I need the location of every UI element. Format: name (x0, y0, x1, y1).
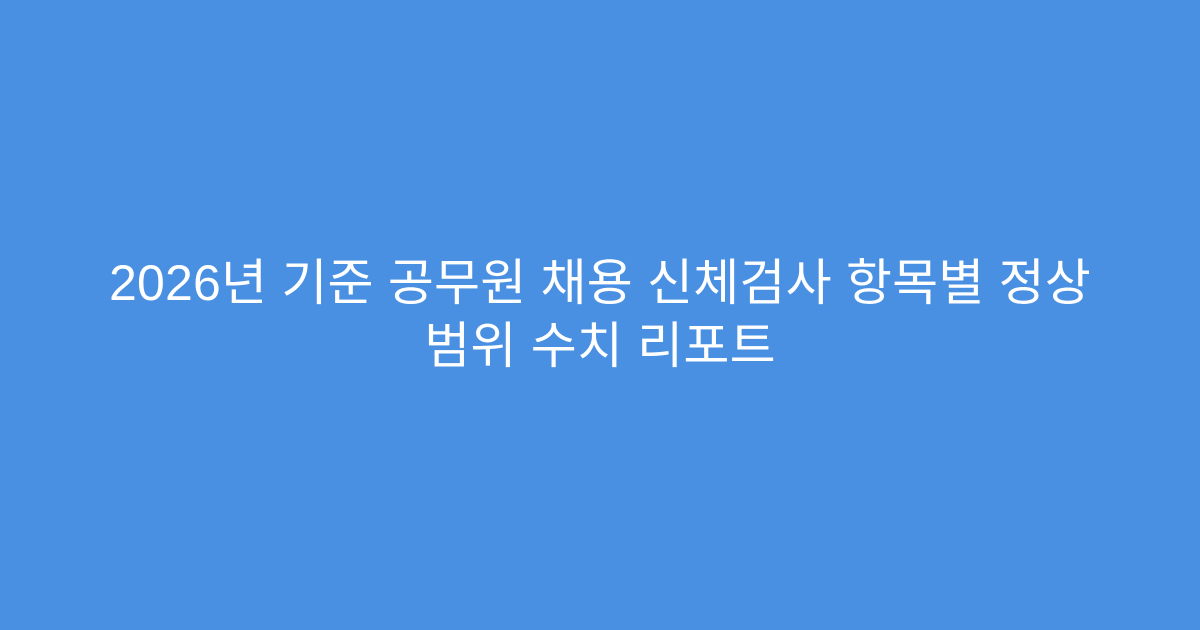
banner-content: 2026년 기준 공무원 채용 신체검사 항목별 정상 범위 수치 리포트 (96, 252, 1104, 378)
banner-card: 2026년 기준 공무원 채용 신체검사 항목별 정상 범위 수치 리포트 (0, 0, 1200, 630)
page-title: 2026년 기준 공무원 채용 신체검사 항목별 정상 범위 수치 리포트 (96, 252, 1104, 378)
